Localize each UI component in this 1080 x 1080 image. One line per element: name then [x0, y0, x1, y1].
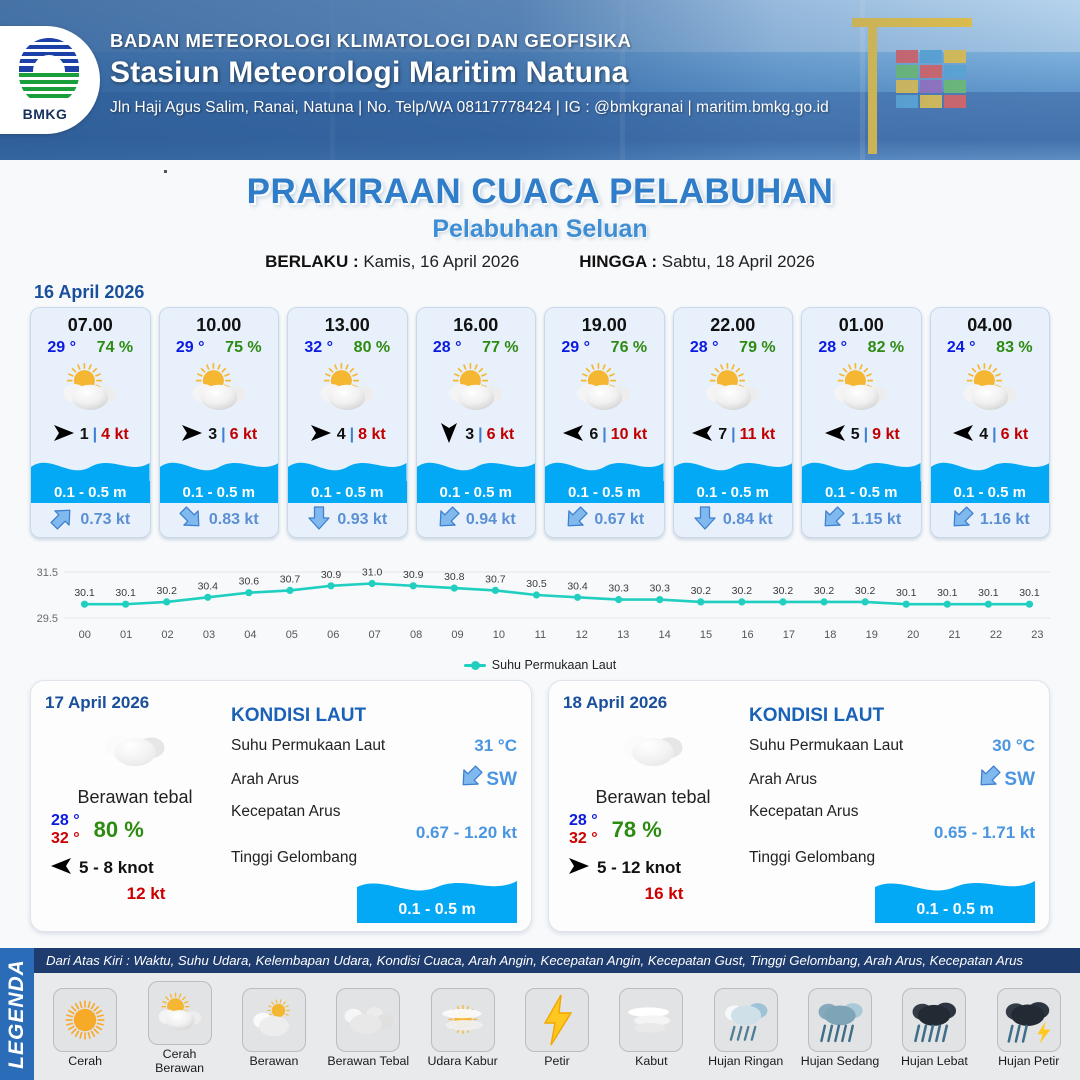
card-current-row: 0.83 kt — [160, 503, 279, 537]
cerah-berawan-icon — [148, 981, 212, 1045]
cerah-berawan-icon — [931, 357, 1050, 419]
legenda-sidebar: LEGENDA — [0, 948, 34, 1080]
legend-item-label: Cerah — [43, 1054, 127, 1068]
hourly-forecast-card: 10.00 29 ° 75 % 3 | 6 kt 0.1 - 0.5 m — [159, 307, 280, 538]
separator: | — [350, 426, 354, 444]
chart-xtick: 18 — [810, 629, 851, 641]
sst-label: Suhu Permukaan Laut — [231, 737, 385, 755]
legend-item: Petir — [515, 988, 599, 1068]
wave-height-value: 0.1 - 0.5 m — [54, 484, 127, 501]
card-humidity: 80 % — [354, 339, 390, 357]
svg-text:30.7: 30.7 — [485, 573, 506, 585]
day-gust-value: 16 kt — [563, 884, 743, 904]
hujan-ringan-icon — [714, 988, 778, 1052]
wave-height-band: 0.1 - 0.5 m — [31, 481, 150, 503]
daily-forecast-panel: 18 April 2026 Berawan tebal 28 ° 32 ° 78… — [548, 680, 1050, 932]
chart-xtick: 05 — [271, 629, 312, 641]
current-speed-value: 1.16 kt — [980, 511, 1030, 529]
bmkg-logo-base — [19, 73, 79, 105]
hourly-forecast-card: 04.00 24 ° 83 % 4 | 6 kt 0.1 - 0.5 m — [930, 307, 1051, 538]
current-direction-group: SW — [459, 765, 517, 794]
hourly-forecast-card: 01.00 28 ° 82 % 5 | 9 kt 0.1 - 0.5 m — [801, 307, 922, 538]
separator: | — [478, 426, 482, 444]
day-date: 18 April 2026 — [563, 693, 743, 713]
card-current-row: 0.67 kt — [545, 503, 664, 537]
wave-height-value: 0.1 - 0.5 m — [696, 484, 769, 501]
card-current-row: 0.93 kt — [288, 503, 407, 537]
current-direction-value: SW — [486, 769, 517, 791]
chart-xtick: 06 — [313, 629, 354, 641]
wind-speed-value: 10 kt — [611, 426, 647, 444]
separator: | — [864, 426, 868, 444]
petir-icon — [525, 988, 589, 1052]
current-speed-value: 0.83 kt — [209, 511, 259, 529]
sst-chart-legend: Suhu Permukaan Laut — [0, 658, 1080, 672]
svg-text:30.2: 30.2 — [691, 585, 712, 597]
wave-height-value: 0.1 - 0.5 m — [953, 484, 1026, 501]
wind-direction-value: 7 — [718, 426, 727, 444]
separator: | — [731, 426, 735, 444]
card-wind-row: 1 | 4 kt — [31, 419, 150, 451]
day-summary: 18 April 2026 Berawan tebal 28 ° 32 ° 78… — [563, 693, 743, 921]
chart-xtick: 12 — [561, 629, 602, 641]
wind-direction-arrow-icon — [823, 423, 847, 448]
day-temp-min: 28 ° — [569, 812, 598, 830]
chart-xtick: 00 — [64, 629, 105, 641]
chart-xtick: 07 — [354, 629, 395, 641]
cerah-berawan-icon — [674, 357, 793, 419]
card-temp-humidity: 32 ° 80 % — [288, 336, 407, 357]
card-temperature: 32 ° — [304, 339, 333, 357]
legend-item-label: Cerah Berawan — [138, 1047, 222, 1075]
day-wave-block: 0.1 - 0.5 m — [749, 871, 1035, 923]
card-humidity: 74 % — [97, 339, 133, 357]
card-time: 04.00 — [931, 308, 1050, 336]
legend-item-label: Berawan Tebal — [326, 1054, 410, 1068]
wave-height-band: 0.1 - 0.5 m — [288, 481, 407, 503]
current-direction-arrow-icon — [693, 506, 717, 535]
validity-block: BERLAKU : Kamis, 16 April 2026 HINGGA : … — [0, 252, 1080, 272]
svg-text:30.1: 30.1 — [74, 587, 95, 599]
card-current-row: 1.15 kt — [802, 503, 921, 537]
card-time: 16.00 — [417, 308, 536, 336]
chart-xtick: 19 — [851, 629, 892, 641]
wave-height-value: 0.1 - 0.5 m — [439, 484, 512, 501]
card-wave-block: 0.1 - 0.5 m — [31, 451, 150, 503]
sst-chart: 31.529.530.130.130.230.430.630.730.931.0… — [0, 552, 1080, 652]
card-current-row: 0.84 kt — [674, 503, 793, 537]
card-temp-humidity: 28 ° 82 % — [802, 336, 921, 357]
cerah-berawan-icon — [160, 357, 279, 419]
current-direction-arrow-icon — [436, 506, 460, 535]
card-current-row: 0.73 kt — [31, 503, 150, 537]
current-direction-row: Arah Arus SW — [231, 765, 517, 794]
wave-height-label: Tinggi Gelombang — [231, 849, 517, 867]
cerah-icon — [53, 988, 117, 1052]
wind-direction-value: 5 — [851, 426, 860, 444]
card-time: 10.00 — [160, 308, 279, 336]
legend-icon-list: Cerah Cerah Berawan Berawan Ber — [34, 973, 1080, 1080]
legenda-label: LEGENDA — [5, 959, 29, 1069]
sea-condition-title: KONDISI LAUT — [231, 705, 517, 727]
hourly-forecast-row: 07.00 29 ° 74 % 1 | 4 kt 0.1 - 0.5 m — [0, 307, 1080, 538]
wave-height-value: 0.1 - 0.5 m — [568, 484, 641, 501]
day-wind-range: 5 - 8 knot — [79, 858, 154, 878]
card-wind-row: 3 | 6 kt — [160, 419, 279, 451]
legend-item-label: Berawan — [232, 1054, 316, 1068]
svg-text:30.1: 30.1 — [1019, 587, 1040, 599]
cerah-berawan-icon — [288, 357, 407, 419]
svg-text:31.0: 31.0 — [362, 567, 383, 579]
svg-text:30.4: 30.4 — [567, 580, 588, 592]
legend-item: Cerah — [43, 988, 127, 1068]
hourly-forecast-card: 07.00 29 ° 74 % 1 | 4 kt 0.1 - 0.5 m — [30, 307, 151, 538]
day-temp-max: 32 ° — [569, 830, 598, 848]
card-wind-row: 4 | 8 kt — [288, 419, 407, 451]
contact-info: Jln Haji Agus Salim, Ranai, Natuna | No.… — [110, 99, 829, 117]
chart-xtick: 17 — [768, 629, 809, 641]
cerah-berawan-icon — [31, 357, 150, 419]
card-wind-row: 6 | 10 kt — [545, 419, 664, 451]
hingga-value: Sabtu, 18 April 2026 — [662, 252, 815, 271]
udara-kabur-icon — [431, 988, 495, 1052]
wave-height-value: 0.1 - 0.5 m — [825, 484, 898, 501]
legend-item-label: Hujan Lebat — [892, 1054, 976, 1068]
hourly-forecast-card: 16.00 28 ° 77 % 3 | 6 kt 0.1 - 0.5 m — [416, 307, 537, 538]
wind-direction-value: 1 — [80, 426, 89, 444]
day-wave-block: 0.1 - 0.5 m — [231, 871, 517, 923]
wind-direction-arrow-icon — [52, 423, 76, 448]
card-humidity: 77 % — [482, 339, 518, 357]
separator: | — [992, 426, 996, 444]
card-temperature: 29 ° — [176, 339, 205, 357]
day-temp-min: 28 ° — [51, 812, 80, 830]
wind-speed-value: 4 kt — [101, 426, 129, 444]
card-current-row: 1.16 kt — [931, 503, 1050, 537]
legend-item-label: Hujan Ringan — [704, 1054, 788, 1068]
wave-height-band: 0.1 - 0.5 m — [931, 481, 1050, 503]
card-time: 22.00 — [674, 308, 793, 336]
page-header: BMKG BADAN METEOROLOGI KLIMATOLOGI DAN G… — [0, 0, 1080, 160]
card-time: 07.00 — [31, 308, 150, 336]
current-speed-label: Kecepatan Arus — [749, 803, 1035, 821]
svg-text:30.5: 30.5 — [526, 578, 547, 590]
wind-speed-value: 8 kt — [358, 426, 386, 444]
wave-height-value: 0.1 - 0.5 m — [311, 484, 384, 501]
day-summary: 17 April 2026 Berawan tebal 28 ° 32 ° 80… — [45, 693, 225, 921]
sea-condition-block: KONDISI LAUT Suhu Permukaan Laut 30 °C A… — [743, 693, 1035, 921]
card-temperature: 28 ° — [690, 339, 719, 357]
sst-row: Suhu Permukaan Laut 30 °C — [749, 736, 1035, 756]
chart-xtick: 03 — [188, 629, 229, 641]
day-temp-max: 32 ° — [51, 830, 80, 848]
stray-dot-mark — [164, 170, 167, 173]
separator: | — [93, 426, 97, 444]
legend-line-marker — [464, 664, 486, 667]
wind-direction-value: 6 — [589, 426, 598, 444]
svg-text:30.9: 30.9 — [321, 569, 342, 581]
chart-xtick: 23 — [1017, 629, 1058, 641]
card-temp-humidity: 29 ° 76 % — [545, 336, 664, 357]
current-speed-value: 0.65 - 1.71 kt — [749, 823, 1035, 843]
day-temp-range: 28 ° 32 ° — [569, 812, 598, 849]
wind-speed-value: 6 kt — [230, 426, 258, 444]
cerah-berawan-icon — [545, 357, 664, 419]
card-temp-humidity: 28 ° 77 % — [417, 336, 536, 357]
chart-xtick: 15 — [685, 629, 726, 641]
card-temp-humidity: 29 ° 74 % — [31, 336, 150, 357]
berlaku-value: Kamis, 16 April 2026 — [363, 252, 519, 271]
card-wave-block: 0.1 - 0.5 m — [160, 451, 279, 503]
day-humidity: 78 % — [612, 817, 662, 843]
wave-height-value: 0.1 - 0.5 m — [916, 901, 993, 919]
hujan-lebat-icon — [902, 988, 966, 1052]
wind-direction-arrow-icon — [561, 423, 585, 448]
svg-text:31.5: 31.5 — [37, 567, 58, 579]
wind-direction-arrow-icon — [309, 423, 333, 448]
sst-value: 31 °C — [474, 736, 517, 756]
svg-text:30.1: 30.1 — [896, 587, 917, 599]
wind-direction-value: 4 — [337, 426, 346, 444]
svg-text:30.7: 30.7 — [280, 573, 301, 585]
bmkg-logo-arc — [19, 38, 79, 72]
hingga-label: HINGGA : — [579, 252, 657, 271]
legend-item-label: Kabut — [609, 1054, 693, 1068]
svg-text:30.3: 30.3 — [608, 583, 629, 595]
wave-height-band: 0.1 - 0.5 m — [545, 481, 664, 503]
chart-xtick: 01 — [105, 629, 146, 641]
current-speed-value: 0.67 kt — [594, 511, 644, 529]
berawan-tebal-icon — [45, 717, 225, 779]
card-temperature: 29 ° — [561, 339, 590, 357]
wind-direction-arrow-icon — [437, 423, 461, 448]
card-temperature: 28 ° — [818, 339, 847, 357]
chart-xtick: 09 — [437, 629, 478, 641]
legend-item: Udara Kabur — [421, 988, 505, 1068]
legend-item-label: Hujan Sedang — [798, 1054, 882, 1068]
wave-height-value: 0.1 - 0.5 m — [182, 484, 255, 501]
svg-text:30.1: 30.1 — [937, 587, 958, 599]
current-speed-label: Kecepatan Arus — [231, 803, 517, 821]
card-temp-humidity: 24 ° 83 % — [931, 336, 1050, 357]
card-time: 13.00 — [288, 308, 407, 336]
current-speed-row: Kecepatan Arus 0.67 - 1.20 kt — [231, 803, 517, 843]
svg-text:30.9: 30.9 — [403, 569, 424, 581]
current-speed-value: 0.84 kt — [723, 511, 773, 529]
legend-item: Berawan — [232, 988, 316, 1068]
hingga-group: HINGGA : Sabtu, 18 April 2026 — [579, 252, 815, 272]
current-direction-arrow-icon — [564, 506, 588, 535]
hujan-sedang-icon — [808, 988, 872, 1052]
chart-xtick: 08 — [395, 629, 436, 641]
day-temp-humidity: 28 ° 32 ° 80 % — [45, 812, 225, 849]
chart-xtick: 02 — [147, 629, 188, 641]
card-humidity: 82 % — [868, 339, 904, 357]
day-temp-humidity: 28 ° 32 ° 78 % — [563, 812, 743, 849]
svg-text:30.4: 30.4 — [198, 580, 219, 592]
daily-forecast-panel: 17 April 2026 Berawan tebal 28 ° 32 ° 80… — [30, 680, 532, 932]
legend-caption: Dari Atas Kiri : Waktu, Suhu Udara, Kele… — [34, 948, 1080, 973]
current-direction-arrow-icon — [821, 506, 845, 535]
day-humidity: 80 % — [94, 817, 144, 843]
wind-direction-value: 3 — [208, 426, 217, 444]
legend-item: Hujan Ringan — [704, 988, 788, 1068]
day-condition: Berawan tebal — [45, 787, 225, 808]
bmkg-logo-text: BMKG — [19, 106, 71, 122]
wind-speed-value: 11 kt — [740, 426, 776, 444]
card-wave-block: 0.1 - 0.5 m — [288, 451, 407, 503]
chart-xtick: 16 — [727, 629, 768, 641]
current-speed-value: 0.94 kt — [466, 511, 516, 529]
svg-text:30.2: 30.2 — [814, 585, 835, 597]
day-gust-value: 12 kt — [45, 884, 225, 904]
legend-item: Hujan Sedang — [798, 988, 882, 1068]
card-temperature: 29 ° — [47, 339, 76, 357]
legend-item: Hujan Petir — [987, 988, 1071, 1068]
separator: | — [602, 426, 606, 444]
card-wind-row: 5 | 9 kt — [802, 419, 921, 451]
day-wind-row: 5 - 12 knot — [563, 856, 743, 881]
current-speed-value: 0.67 - 1.20 kt — [231, 823, 517, 843]
card-wave-block: 0.1 - 0.5 m — [931, 451, 1050, 503]
svg-text:30.2: 30.2 — [855, 585, 876, 597]
current-speed-row: Kecepatan Arus 0.65 - 1.71 kt — [749, 803, 1035, 843]
current-direction-arrow-icon — [307, 506, 331, 535]
card-humidity: 83 % — [996, 339, 1032, 357]
card-temp-humidity: 28 ° 79 % — [674, 336, 793, 357]
card-temperature: 28 ° — [433, 339, 462, 357]
wave-height-band: 0.1 - 0.5 m — [674, 481, 793, 503]
card-humidity: 76 % — [611, 339, 647, 357]
current-direction-label: Arah Arus — [231, 771, 299, 789]
current-speed-value: 1.15 kt — [851, 511, 901, 529]
kabut-icon — [619, 988, 683, 1052]
wind-direction-value: 3 — [465, 426, 474, 444]
page-title: PRAKIRAAN CUACA PELABUHAN — [0, 172, 1080, 212]
sst-value: 30 °C — [992, 736, 1035, 756]
sst-chart-xaxis: 0001020304050607080910111213141516171819… — [22, 629, 1058, 641]
svg-text:30.1: 30.1 — [978, 587, 999, 599]
wind-direction-value: 4 — [979, 426, 988, 444]
day-date: 17 April 2026 — [45, 693, 225, 713]
legend-series-label: Suhu Permukaan Laut — [492, 658, 616, 672]
card-humidity: 75 % — [225, 339, 261, 357]
daily-forecast-row: 17 April 2026 Berawan tebal 28 ° 32 ° 80… — [0, 680, 1080, 932]
wave-height-value: 0.1 - 0.5 m — [398, 901, 475, 919]
wind-direction-arrow-icon — [690, 423, 714, 448]
card-humidity: 79 % — [739, 339, 775, 357]
current-direction-arrow-icon — [459, 765, 483, 794]
hourly-forecast-card: 19.00 29 ° 76 % 6 | 10 kt 0.1 - 0.5 m — [544, 307, 665, 538]
wind-speed-value: 6 kt — [487, 426, 515, 444]
sea-condition-title: KONDISI LAUT — [749, 705, 1035, 727]
separator: | — [221, 426, 225, 444]
chart-xtick: 20 — [892, 629, 933, 641]
current-speed-value: 0.93 kt — [337, 511, 387, 529]
svg-text:30.1: 30.1 — [115, 587, 136, 599]
legend-item-label: Udara Kabur — [421, 1054, 505, 1068]
hujan-petir-icon — [997, 988, 1061, 1052]
svg-text:30.2: 30.2 — [732, 585, 753, 597]
svg-text:30.2: 30.2 — [773, 585, 794, 597]
sst-label: Suhu Permukaan Laut — [749, 737, 903, 755]
current-direction-row: Arah Arus SW — [749, 765, 1035, 794]
wave-height-label: Tinggi Gelombang — [749, 849, 1035, 867]
day-wind-row: 5 - 8 knot — [45, 856, 225, 881]
hourly-forecast-card: 22.00 28 ° 79 % 7 | 11 kt 0.1 - 0.5 m — [673, 307, 794, 538]
wind-direction-arrow-icon — [49, 856, 73, 881]
header-text-block: BADAN METEOROLOGI KLIMATOLOGI DAN GEOFIS… — [110, 30, 829, 117]
card-wave-block: 0.1 - 0.5 m — [674, 451, 793, 503]
day-wind-range: 5 - 12 knot — [597, 858, 681, 878]
berlaku-label: BERLAKU : — [265, 252, 359, 271]
agency-name: BADAN METEOROLOGI KLIMATOLOGI DAN GEOFIS… — [110, 30, 829, 52]
chart-xtick: 22 — [975, 629, 1016, 641]
card-wind-row: 7 | 11 kt — [674, 419, 793, 451]
wind-direction-arrow-icon — [951, 423, 975, 448]
wave-height-band: 0.1 - 0.5 m — [357, 897, 517, 923]
card-time: 19.00 — [545, 308, 664, 336]
svg-text:30.3: 30.3 — [649, 583, 670, 595]
hourly-forecast-card: 13.00 32 ° 80 % 4 | 8 kt 0.1 - 0.5 m — [287, 307, 408, 538]
legend-body: Dari Atas Kiri : Waktu, Suhu Udara, Kele… — [34, 948, 1080, 1080]
station-name: Stasiun Meteorologi Maritim Natuna — [110, 56, 829, 90]
sea-condition-block: KONDISI LAUT Suhu Permukaan Laut 31 °C A… — [225, 693, 517, 921]
current-direction-label: Arah Arus — [749, 771, 817, 789]
svg-text:30.6: 30.6 — [239, 576, 260, 588]
forecast-date-label: 16 April 2026 — [34, 282, 1080, 303]
card-wave-block: 0.1 - 0.5 m — [545, 451, 664, 503]
wind-direction-arrow-icon — [567, 856, 591, 881]
chart-xtick: 21 — [934, 629, 975, 641]
day-condition: Berawan tebal — [563, 787, 743, 808]
sst-row: Suhu Permukaan Laut 31 °C — [231, 736, 517, 756]
wind-speed-value: 9 kt — [872, 426, 900, 444]
card-wind-row: 4 | 6 kt — [931, 419, 1050, 451]
cerah-berawan-icon — [802, 357, 921, 419]
chart-xtick: 14 — [644, 629, 685, 641]
wind-speed-value: 6 kt — [1001, 426, 1029, 444]
berawan-tebal-icon — [336, 988, 400, 1052]
svg-text:30.8: 30.8 — [444, 571, 465, 583]
chart-xtick: 13 — [602, 629, 643, 641]
wave-height-band: 0.1 - 0.5 m — [875, 897, 1035, 923]
berlaku-group: BERLAKU : Kamis, 16 April 2026 — [265, 252, 519, 272]
card-temp-humidity: 29 ° 75 % — [160, 336, 279, 357]
card-temperature: 24 ° — [947, 339, 976, 357]
current-speed-value: 0.73 kt — [80, 511, 130, 529]
current-direction-arrow-icon — [179, 506, 203, 535]
day-temp-range: 28 ° 32 ° — [51, 812, 80, 849]
chart-xtick: 11 — [520, 629, 561, 641]
chart-xtick: 04 — [230, 629, 271, 641]
legend-item: Hujan Lebat — [892, 988, 976, 1068]
card-wave-block: 0.1 - 0.5 m — [417, 451, 536, 503]
svg-text:30.2: 30.2 — [156, 585, 177, 597]
title-block: PRAKIRAAN CUACA PELABUHAN Pelabuhan Selu… — [0, 172, 1080, 272]
berawan-icon — [242, 988, 306, 1052]
cerah-berawan-icon — [417, 357, 536, 419]
sst-chart-plot: 31.529.530.130.130.230.430.630.730.931.0… — [22, 552, 1058, 628]
wave-height-band: 0.1 - 0.5 m — [160, 481, 279, 503]
card-time: 01.00 — [802, 308, 921, 336]
card-wave-block: 0.1 - 0.5 m — [802, 451, 921, 503]
legend-item-label: Hujan Petir — [987, 1054, 1071, 1068]
wave-height-band: 0.1 - 0.5 m — [802, 481, 921, 503]
port-name: Pelabuhan Seluan — [0, 215, 1080, 244]
svg-text:29.5: 29.5 — [37, 613, 58, 625]
wave-height-band: 0.1 - 0.5 m — [417, 481, 536, 503]
